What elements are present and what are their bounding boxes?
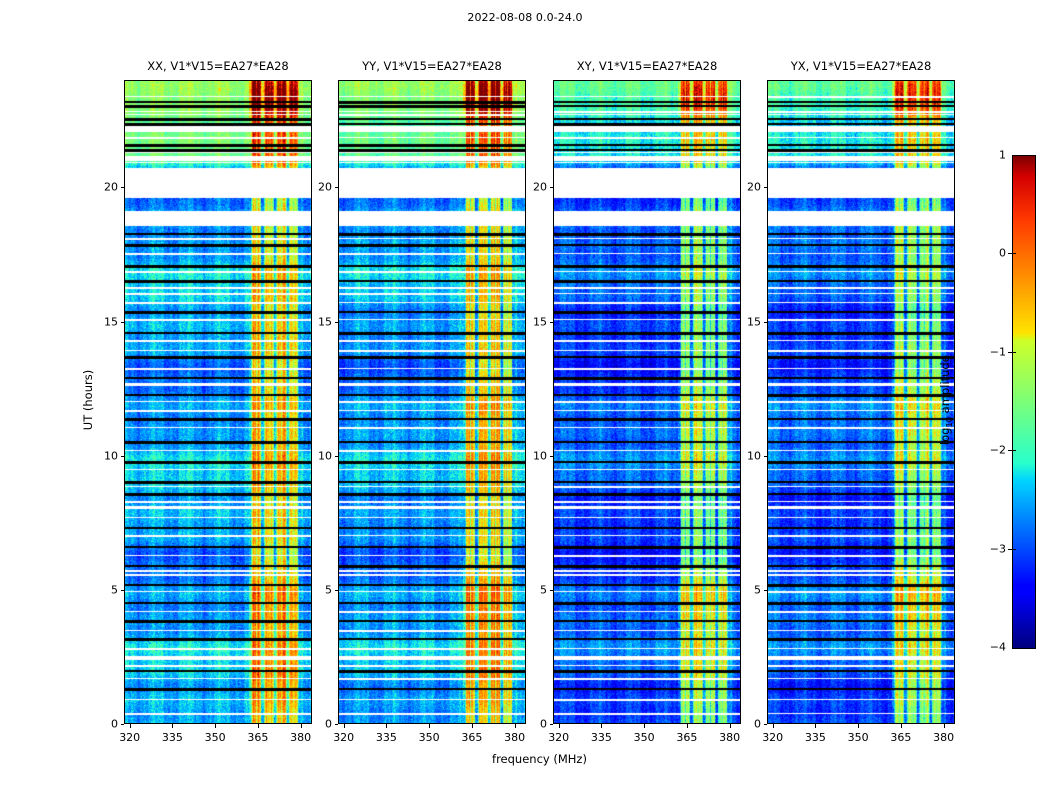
panel-xy: XY, V1*V15=EA27*EA2805101520320335350365…	[553, 80, 741, 724]
colorbar-tick-mark-inner-2	[1012, 450, 1016, 451]
x-tick-mark-yx-2	[858, 724, 859, 728]
y-tick-mark-yx-4	[764, 187, 768, 188]
panel-frame-xx	[124, 80, 312, 724]
panel-title-xy: XY, V1*V15=EA27*EA28	[553, 59, 741, 73]
panel-yy: YY, V1*V15=EA27*EA2805101520320335350365…	[338, 80, 526, 724]
x-tick-mark-yy-4	[515, 724, 516, 728]
colorbar-tick-mark-inner-3	[1012, 352, 1016, 353]
panel-frame-yx	[767, 80, 955, 724]
colorbar-label: log10 amplitude	[938, 330, 954, 470]
x-tick-mark-xy-2	[644, 724, 645, 728]
y-tick-mark-yx-1	[764, 590, 768, 591]
panel-title-yx: YX, V1*V15=EA27*EA28	[767, 59, 955, 73]
y-tick-mark-xx-1	[121, 590, 125, 591]
colorbar: −4−3−2−101 log10 amplitude	[1012, 155, 1034, 647]
colorbar-tick-label-0: −4	[990, 641, 1012, 654]
x-tick-mark-xy-0	[559, 724, 560, 728]
y-tick-mark-xy-1	[550, 590, 554, 591]
y-tick-mark-yy-4	[335, 187, 339, 188]
panel-title-xx: XX, V1*V15=EA27*EA28	[124, 59, 312, 73]
panel-frame-xy	[553, 80, 741, 724]
x-tick-mark-xy-4	[730, 724, 731, 728]
y-tick-mark-xy-3	[550, 322, 554, 323]
x-tick-mark-yy-1	[386, 724, 387, 728]
x-tick-mark-yx-0	[773, 724, 774, 728]
y-tick-mark-xy-4	[550, 187, 554, 188]
x-tick-mark-xy-1	[601, 724, 602, 728]
panel-yx: YX, V1*V15=EA27*EA2805101520320335350365…	[767, 80, 955, 724]
y-tick-mark-yy-1	[335, 590, 339, 591]
y-tick-mark-xx-4	[121, 187, 125, 188]
y-tick-mark-yx-3	[764, 322, 768, 323]
x-tick-mark-xy-3	[687, 724, 688, 728]
x-tick-mark-xx-3	[258, 724, 259, 728]
y-tick-mark-yy-3	[335, 322, 339, 323]
colorbar-tick-label-5: 1	[999, 149, 1012, 162]
y-axis-label: UT (hours)	[81, 340, 95, 460]
x-axis-label: frequency (MHz)	[124, 752, 955, 766]
x-tick-mark-xx-2	[215, 724, 216, 728]
y-tick-mark-xx-2	[121, 456, 125, 457]
colorbar-gradient	[1012, 155, 1036, 649]
y-tick-mark-yx-2	[764, 456, 768, 457]
y-tick-mark-xx-3	[121, 322, 125, 323]
y-tick-mark-xy-2	[550, 456, 554, 457]
x-tick-mark-xx-1	[172, 724, 173, 728]
colorbar-tick-mark-inner-4	[1012, 253, 1016, 254]
y-tick-mark-yy-2	[335, 456, 339, 457]
x-tick-mark-yx-4	[944, 724, 945, 728]
panel-xx: XX, V1*V15=EA27*EA2805101520320335350365…	[124, 80, 312, 724]
figure-suptitle: 2022-08-08 0.0-24.0	[0, 11, 1050, 24]
x-tick-mark-yy-2	[429, 724, 430, 728]
x-tick-mark-yy-0	[344, 724, 345, 728]
x-tick-mark-yx-1	[815, 724, 816, 728]
x-tick-mark-xx-4	[301, 724, 302, 728]
figure-canvas: 2022-08-08 0.0-24.0 XX, V1*V15=EA27*EA28…	[0, 0, 1050, 800]
panel-frame-yy	[338, 80, 526, 724]
panel-title-yy: YY, V1*V15=EA27*EA28	[338, 59, 526, 73]
x-tick-mark-yx-3	[901, 724, 902, 728]
x-tick-mark-xx-0	[130, 724, 131, 728]
colorbar-tick-mark-inner-1	[1012, 549, 1016, 550]
x-tick-mark-yy-3	[472, 724, 473, 728]
